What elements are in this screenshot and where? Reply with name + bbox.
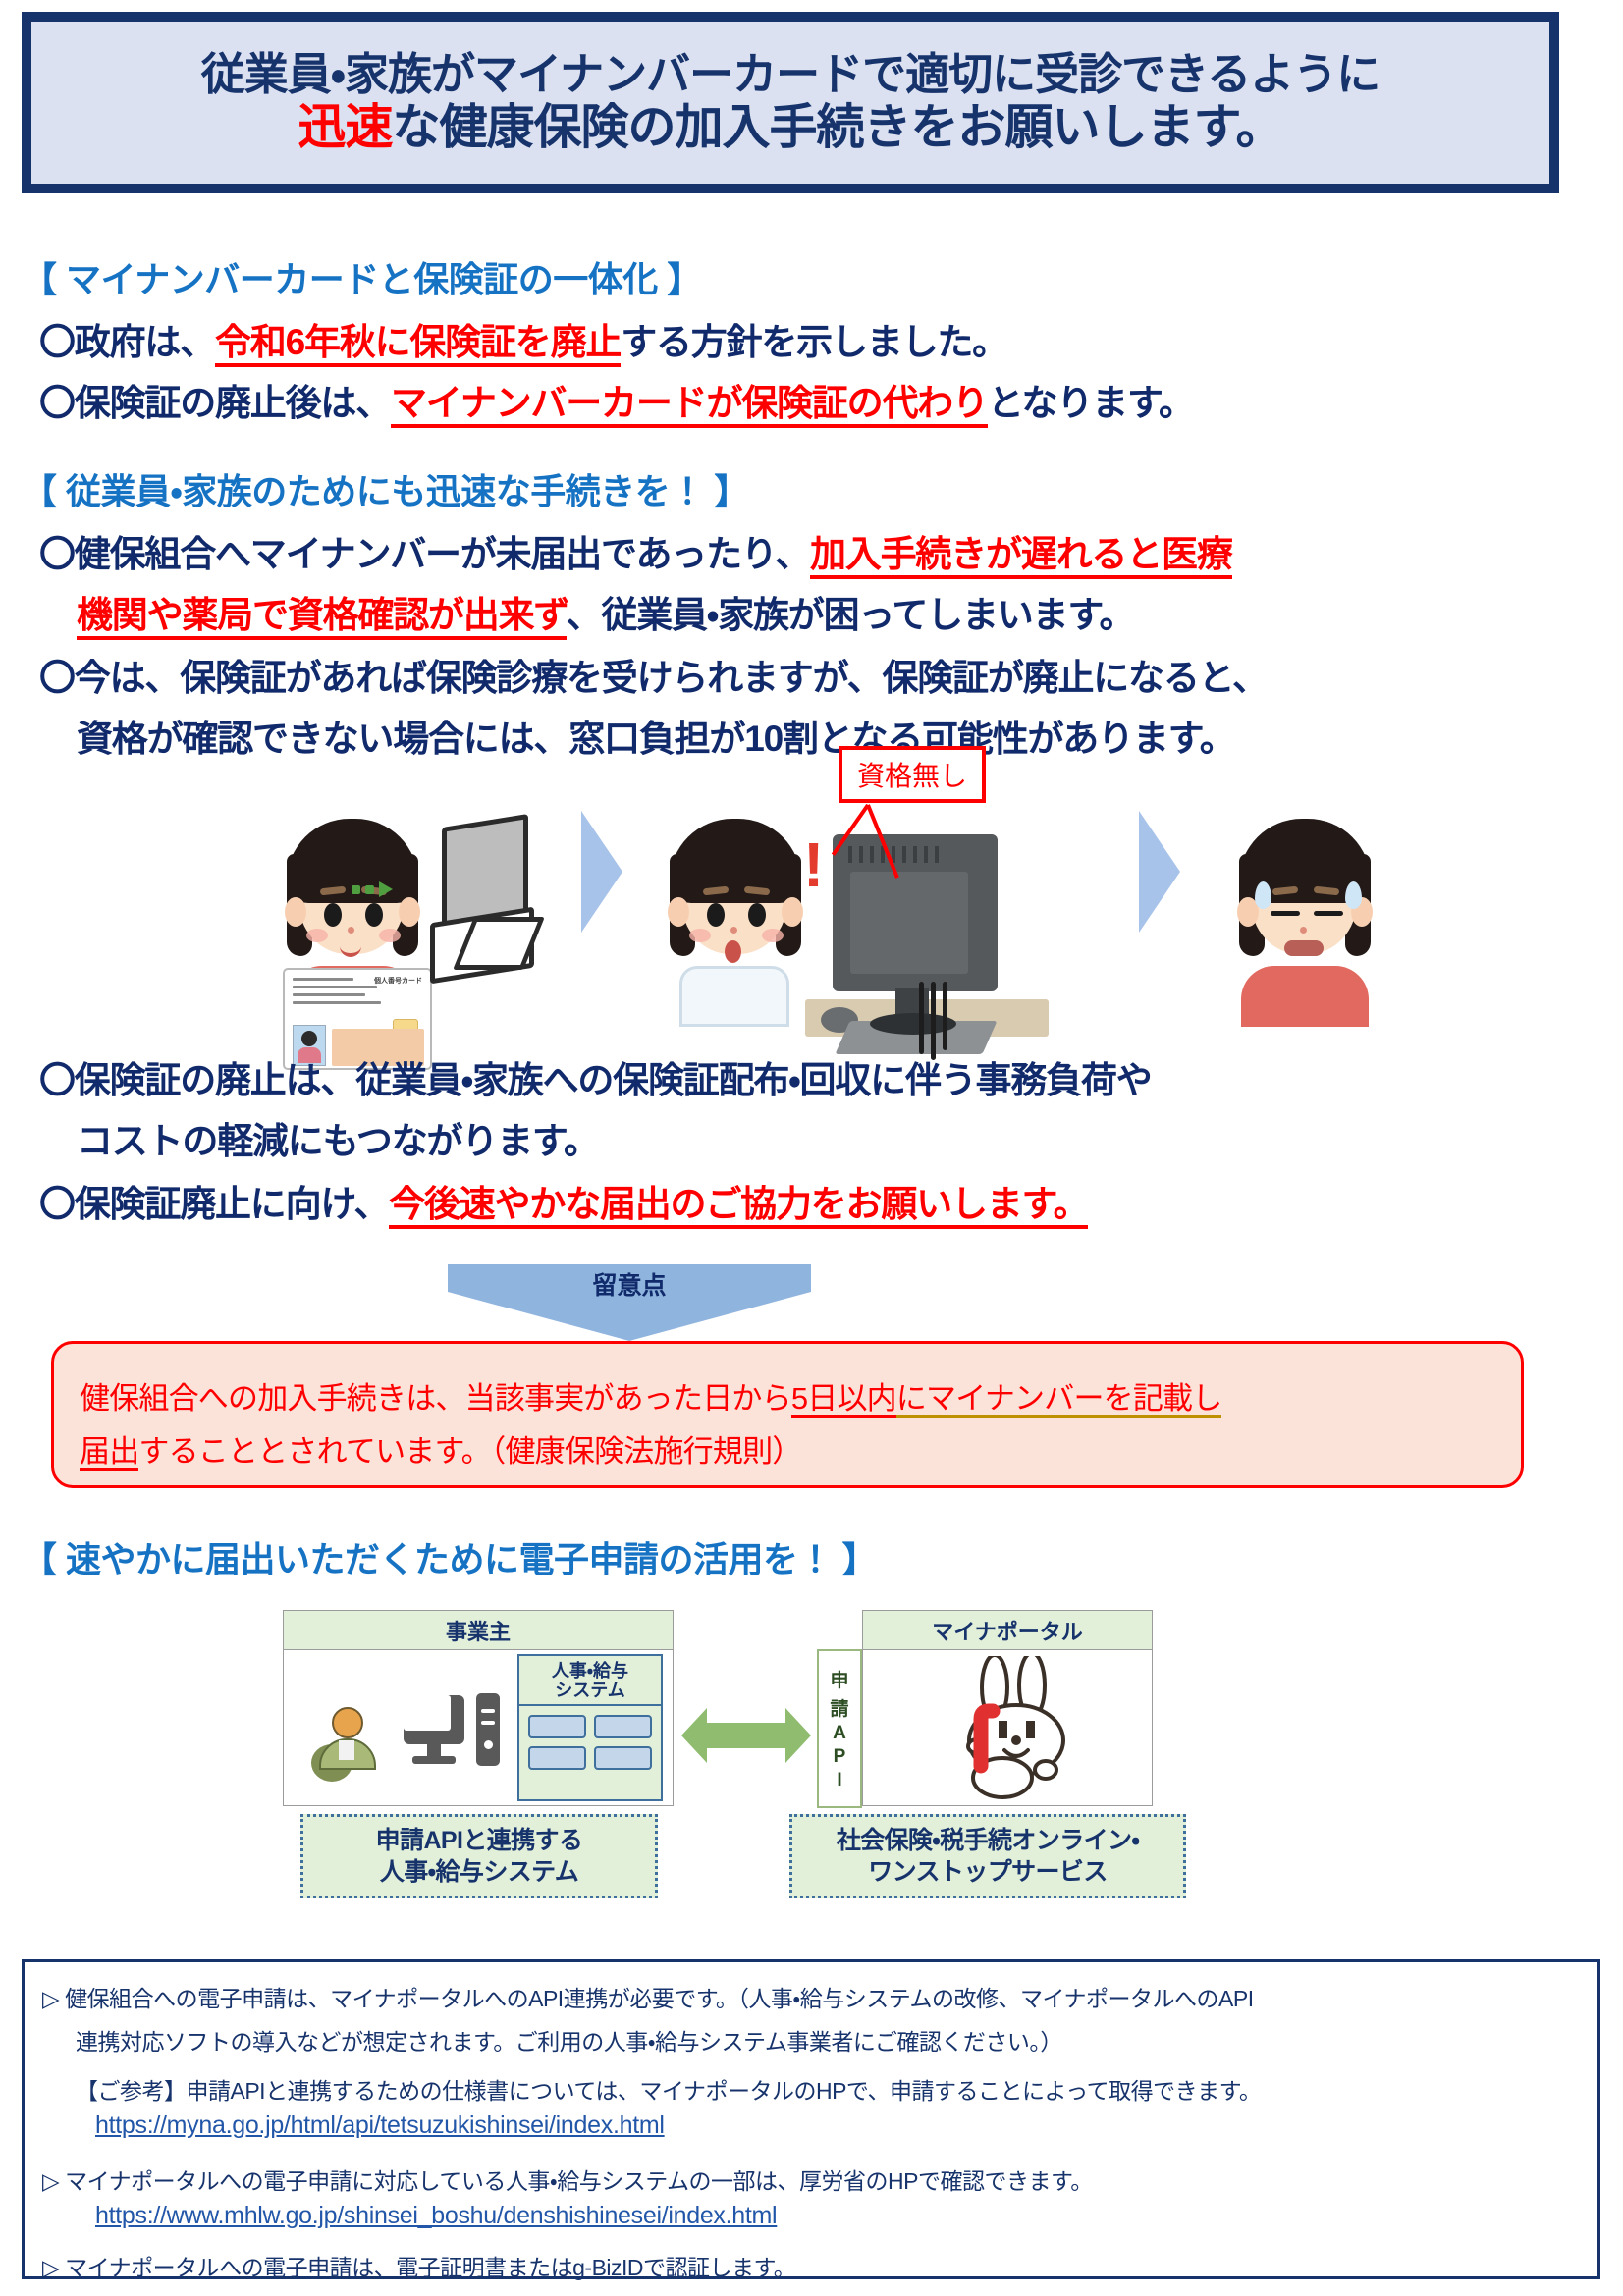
- chevron-arrow-1-icon: [581, 811, 622, 933]
- diagram-employer-title: 事業主: [283, 1610, 674, 1649]
- right-caption-line2: ワンストップサービス: [868, 1856, 1108, 1888]
- right-caption-line1: 社会保険・税手続オンライン・: [837, 1825, 1140, 1856]
- diagram-mynaportal-title: マイナポータル: [862, 1610, 1153, 1649]
- left-caption-line1: 申請APIと連携する: [376, 1825, 583, 1856]
- hr-title-line1: 人事・給与: [519, 1661, 661, 1681]
- section-2-bullet-2-line-1: 〇今は、保険証があれば保険診療を受けられますが、保険証が廃止になると、: [39, 660, 1268, 696]
- poster-page: 従業員・家族がマイナンバーカードで適切に受診できるように 迅速な健康保険の加入手…: [0, 0, 1623, 2296]
- s2b4-highlight: 今後速やかな届出のご協力をお願いします。: [389, 1184, 1088, 1229]
- section-1-bullet-2: 〇保険証の廃止後は、マイナンバーカードが保険証の代わりとなります。: [39, 385, 1194, 421]
- footnote-1-line-1: ▷ 健保組合への電子申請は、マイナポータルへのAPI連携が必要です。（人事・給与…: [42, 1980, 1254, 2013]
- left-caption-box: 申請APIと連携する 人事・給与システム: [300, 1814, 658, 1898]
- notice-box: 健保組合への加入手続きは、当該事実があった日から5日以内にマイナンバーを記載し …: [51, 1341, 1524, 1488]
- notice-l2-a: 届出: [80, 1434, 138, 1471]
- banner-emphasis: 迅速: [298, 101, 392, 154]
- section-3-heading: 【 速やかに届出いただくために電子申請の活用を！ 】: [22, 1531, 877, 1582]
- bidirectional-green-arrow-icon: [681, 1708, 811, 1763]
- hr-payroll-system-title: 人事・給与 システム: [519, 1656, 661, 1706]
- application-api-column: 申 請 A P I: [817, 1649, 862, 1808]
- s2b4-pre: 〇保険証廃止に向け、: [39, 1184, 389, 1224]
- footnote-2-text: 【ご参考】申請APIと連携するための仕様書については、マイナポータルのHPで、申…: [76, 2072, 1261, 2106]
- footnote-1-line-2: 連携対応ソフトの導入などが想定されます。ご利用の人事・給与システム事業者にご確認…: [76, 2023, 1062, 2056]
- section-1-heading: 【 マイナンバーカードと保険証の一体化 】: [22, 251, 702, 302]
- notice-l1-c: にマイナンバーを記載し: [896, 1381, 1222, 1418]
- hr-payroll-system-box: 人事・給与 システム: [517, 1654, 663, 1801]
- section-2-bullet-2-line-2: 資格が確認できない場合には、窓口負担が10割となる可能性があります。: [77, 721, 1235, 757]
- s1b2-post: となります。: [988, 383, 1194, 423]
- footnotes-box: ▷ 健保組合への電子申請は、マイナポータルへのAPI連携が必要です。（人事・給与…: [22, 1959, 1600, 2279]
- section-2-bullet-3-line-1: 〇保険証の廃止は、従業員・家族への保険証配布・回収に伴う事務負荷や: [39, 1062, 1152, 1098]
- footnote-3-text: ▷ マイナポータルへの電子申請に対応している人事・給与システムの一部は、厚労省の…: [42, 2163, 1093, 2196]
- callout-no-eligibility: 資格無し: [839, 746, 986, 803]
- s1b1-highlight: 令和6年秋に保険証を廃止: [215, 322, 621, 367]
- s2b1l2-highlight: 機関や薬局で資格確認が出来ず: [77, 595, 567, 640]
- right-caption-box: 社会保険・税手続オンライン・ ワンストップサービス: [789, 1814, 1186, 1898]
- section-1-bullet-1: 〇政府は、令和6年秋に保険証を廃止する方針を示しました。: [39, 324, 1007, 360]
- footnote-4-text: ▷ マイナポータルへの電子申請は、電子証明書またはg-BizIDで認証します。: [42, 2249, 795, 2282]
- s1b1-pre: 〇政府は、: [39, 322, 215, 362]
- efiling-diagram: 事業主 人事・給与 システム: [283, 1610, 1265, 1963]
- s1b1-post: する方針を示しました。: [621, 322, 1007, 362]
- diagram-mynaportal-body: 1: [862, 1649, 1153, 1806]
- footnote-2-url[interactable]: https://myna.go.jp/html/api/tetsuzukishi…: [95, 2111, 665, 2140]
- s2b1l2-post: 、従業員・家族が困ってしまいます。: [567, 595, 1135, 635]
- illustration-row: 個人番号カード !: [0, 756, 1623, 1031]
- s1b2-highlight: マイナンバーカードが保険証の代わり: [391, 383, 988, 428]
- banner-line-1: 従業員・家族がマイナンバーカードで適切に受診できるように: [201, 51, 1380, 98]
- left-caption-line2: 人事・給与システム: [380, 1856, 578, 1888]
- notice-line-2: 届出することとされています。（健康保険法施行規則）: [80, 1426, 801, 1470]
- my-number-card: 個人番号カード: [283, 968, 432, 1070]
- section-2-bullet-1-line-1: 〇健保組合へマイナンバーが未届出であったり、加入手続きが遅れると医療: [39, 536, 1232, 572]
- notice-l1-a: 健保組合への加入手続きは、当該事実があった日から: [80, 1381, 791, 1415]
- api-char-0: 申: [830, 1666, 848, 1692]
- notice-l1-b: 5日以内: [791, 1381, 896, 1418]
- mynachan-rabbit-mascot-icon: 1: [930, 1656, 1087, 1808]
- section-2-bullet-3-line-2: コストの軽減にもつながります。: [77, 1123, 599, 1159]
- notice-arrow-label: 留意点: [448, 1266, 811, 1302]
- s1b2-pre: 〇保険証の廃止後は、: [39, 383, 391, 423]
- api-char-3: P: [834, 1746, 846, 1768]
- banner-line-2-rest: な健康保険の加入手続きをお願いします。: [392, 101, 1282, 154]
- card-label: 個人番号カード: [374, 977, 422, 986]
- s2b1l1-pre: 〇健保組合へマイナンバーが未届出であったり、: [39, 534, 810, 574]
- notice-l2-b: することとされています。（健康保険法施行規則）: [138, 1434, 801, 1468]
- exclamation-mark-icon: !: [803, 840, 824, 890]
- api-char-2: A: [833, 1723, 846, 1744]
- notice-line-1: 健保組合への加入手続きは、当該事実があった日から5日以内にマイナンバーを記載し: [80, 1373, 1221, 1417]
- section-2-bullet-1-line-2: 機関や薬局で資格確認が出来ず、従業員・家族が困ってしまいます。: [77, 597, 1134, 633]
- green-dotted-arrow-icon: [352, 881, 393, 897]
- hr-title-line2: システム: [519, 1681, 661, 1700]
- api-char-1: 請: [830, 1694, 848, 1721]
- chevron-arrow-2-icon: [1139, 811, 1180, 933]
- hr-system-tiles: [519, 1706, 661, 1779]
- diagram-employer-body: 人事・給与 システム: [283, 1649, 674, 1806]
- footnote-3-url[interactable]: https://www.mhlw.go.jp/shinsei_boshu/den…: [95, 2202, 777, 2230]
- section-2-heading: 【 従業員・家族のためにも迅速な手続きを！ 】: [22, 463, 749, 514]
- banner-line-2: 迅速な健康保険の加入手続きをお願いします。: [298, 103, 1282, 154]
- section-2-bullet-4: 〇保険証廃止に向け、今後速やかな届出のご協力をお願いします。: [39, 1186, 1088, 1222]
- api-char-4: I: [837, 1770, 841, 1791]
- callout-text: 資格無し: [857, 755, 967, 794]
- header-banner: 従業員・家族がマイナンバーカードで適切に受診できるように 迅速な健康保険の加入手…: [22, 12, 1559, 193]
- s2b1l1-highlight: 加入手続きが遅れると医療: [810, 534, 1232, 579]
